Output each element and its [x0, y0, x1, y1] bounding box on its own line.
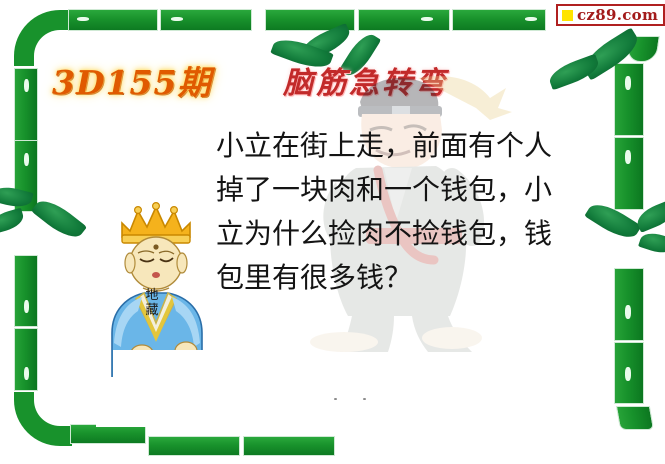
bamboo-segment-bottom-3 [243, 436, 335, 456]
bamboo-corner-bottom-left [14, 392, 72, 446]
bamboo-segment-right-1 [614, 63, 644, 136]
bamboo-segment-top-2 [160, 9, 252, 31]
logo-swatch-icon [562, 10, 573, 21]
logo-text: cz89.com [577, 8, 658, 23]
white-overlay-patch-secondary [96, 377, 326, 427]
bamboo-node-dot [525, 17, 537, 21]
bamboo-node-dot [24, 153, 29, 166]
bamboo-segment-left-4 [14, 328, 38, 391]
bamboo-leaf [0, 208, 26, 235]
dotted-divider-dot [334, 398, 337, 400]
bamboo-node-dot [625, 367, 631, 381]
bamboo-node-dot [171, 17, 183, 21]
bamboo-node-dot [625, 76, 631, 90]
bamboo-segment-right-3 [614, 268, 644, 341]
bamboo-segment-top-4 [358, 9, 450, 31]
bamboo-segment-left-1 [14, 68, 38, 141]
bamboo-segment-right-2 [614, 137, 644, 210]
issue-title: 3D155期 [52, 56, 211, 104]
site-watermark[interactable]: cz89.com [556, 4, 665, 26]
bamboo-node-dot [421, 17, 433, 21]
bamboo-node-dot [77, 17, 89, 21]
riddle-text: 小立在街上走，前面有个人掉了一块肉和一个钱包，小立为什么捡肉不捡钱包，钱包里有很… [216, 124, 568, 300]
bamboo-leaf [638, 229, 665, 257]
bamboo-segment-top-1 [68, 9, 158, 31]
poster-canvas: 地藏 3D155期 脑筋急转弯 小立在街上走，前面有个人掉了一块肉和一个钱包，小… [0, 0, 665, 464]
bamboo-segment-left-3 [14, 255, 38, 327]
bamboo-node-dot [625, 150, 631, 164]
bamboo-segment-top-5 [452, 9, 546, 31]
bamboo-node-dot [24, 367, 29, 380]
robe-label: 地藏 [140, 288, 164, 318]
bamboo-node-dot [24, 79, 29, 92]
bamboo-leaf [31, 194, 87, 245]
bamboo-segment-right-bottom [616, 406, 654, 430]
bamboo-segment-right-4 [614, 342, 644, 404]
bamboo-node-dot [625, 305, 631, 319]
dotted-divider-dot [363, 398, 366, 400]
bamboo-segment-bottom-1 [70, 424, 146, 444]
bamboo-node-dot [24, 300, 29, 313]
bamboo-segment-bottom-2 [148, 436, 240, 456]
